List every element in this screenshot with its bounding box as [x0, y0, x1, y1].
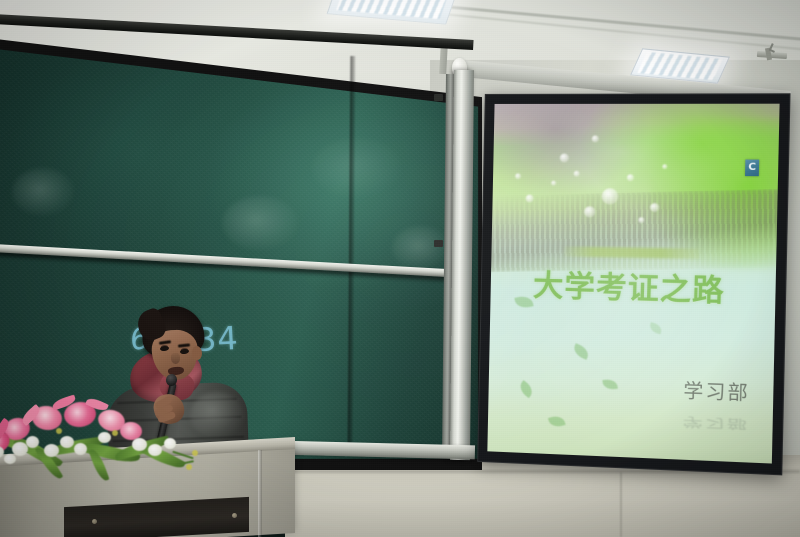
ear	[192, 346, 202, 360]
wall-panel-divider	[620, 472, 622, 537]
blackboard-track-stop	[434, 240, 443, 247]
slide-subtitle-reflection: 学习部	[683, 413, 750, 433]
slide-subtitle: 学习部	[683, 376, 750, 406]
flower-bud	[186, 464, 192, 470]
white-flower	[4, 454, 16, 464]
panel-screw	[92, 519, 97, 524]
white-flower	[26, 436, 39, 448]
flower-bud	[192, 450, 198, 456]
flower-bud	[112, 430, 118, 436]
white-flower	[98, 432, 111, 443]
projection-screen[interactable]: 大学考证之路 学习部 学习部 C	[477, 93, 790, 475]
chalk-smudge	[312, 138, 402, 198]
bokeh-dot	[591, 136, 598, 143]
white-flower	[60, 436, 74, 448]
presentation-logo-icon: C	[745, 159, 759, 176]
flower-bud	[56, 428, 62, 434]
lectern-right-edge	[258, 450, 262, 537]
white-flower	[132, 438, 147, 451]
bokeh-dot	[638, 217, 644, 223]
white-flower	[164, 438, 176, 449]
projected-slide: 大学考证之路 学习部 学习部 C	[487, 104, 779, 464]
bokeh-dot	[574, 171, 580, 177]
white-flower	[44, 444, 59, 457]
classroom-photo-scene: 6 34 大学考证之路	[0, 0, 800, 537]
bokeh-dot	[584, 206, 595, 217]
bokeh-dot	[662, 164, 667, 169]
bokeh-dot	[649, 203, 659, 212]
white-flower	[74, 443, 87, 455]
floral-arrangement	[0, 380, 216, 485]
chalk-smudge	[392, 226, 450, 270]
blackboard-track-stop	[434, 94, 443, 101]
bokeh-dot	[601, 188, 618, 204]
chalk-smudge	[222, 196, 298, 250]
chalk-smudge	[12, 168, 74, 216]
panel-screw	[232, 513, 237, 518]
bokeh-dot	[560, 153, 569, 162]
white-flower	[148, 444, 162, 456]
fluorescent-tubes	[638, 52, 723, 80]
blackboard-right-frame	[450, 70, 474, 460]
fluorescent-tubes	[336, 0, 452, 20]
